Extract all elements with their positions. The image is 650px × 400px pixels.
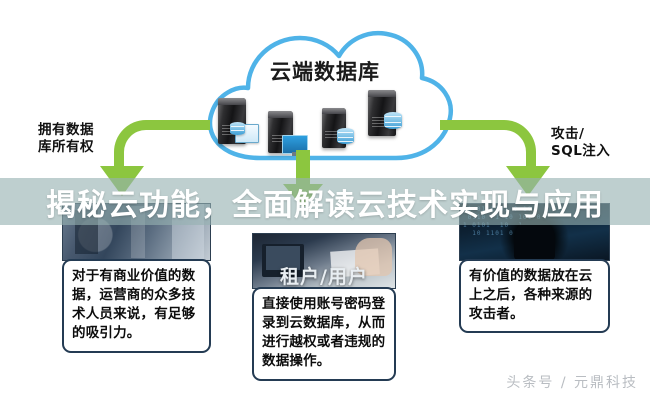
- panel-label: 租户/用户: [253, 262, 395, 289]
- cloud-title: 云端数据库: [190, 56, 460, 86]
- watermark: 头条号 / 元鼎科技: [506, 372, 638, 392]
- panel-tenant-user: 租户/用户 直接使用账号密码登录到云数据库，从而进行越权或者违规的数据操作。: [252, 233, 396, 381]
- poster-title: 揭秘云功能，全面解读云技术实现与应用: [0, 180, 650, 224]
- poster-canvas: 云端数据库: [0, 0, 650, 400]
- caption-right-line1: 攻击/: [551, 126, 610, 143]
- panel-cloud-operator: 云运营商 对于有商业价值的数据，运营商的众多技术人员来说，有足够的吸引力。: [62, 203, 211, 353]
- caption-right: 攻击/ SQL注入: [551, 126, 610, 160]
- server-monitor-icon: [322, 108, 346, 148]
- cloud-graphic: 云端数据库: [190, 8, 460, 188]
- database-badge-icon: [337, 128, 354, 144]
- caption-left-line1: 拥有数据: [38, 122, 94, 139]
- server-database-icon: [368, 90, 396, 136]
- server-tower-icon: [218, 98, 246, 144]
- panel-description: 有价值的数据放在云上之后，各种来源的攻击者。: [459, 259, 610, 333]
- panel-description: 直接使用账号密码登录到云数据库，从而进行越权或者违规的数据操作。: [252, 287, 396, 381]
- caption-right-line2: SQL注入: [551, 143, 610, 160]
- server-folder-icon: [268, 111, 293, 153]
- caption-left-line2: 库所有权: [38, 139, 94, 156]
- database-badge-icon: [230, 122, 245, 135]
- database-badge-icon: [384, 112, 402, 129]
- caption-left: 拥有数据 库所有权: [38, 122, 94, 156]
- panel-description: 对于有商业价值的数据，运营商的众多技术人员来说，有足够的吸引力。: [62, 259, 211, 353]
- panel-photo-desk: 租户/用户: [252, 233, 396, 289]
